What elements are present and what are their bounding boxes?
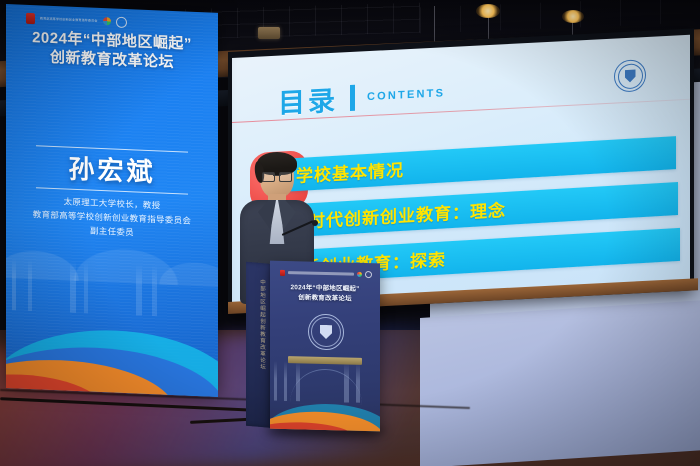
podium-side-text: 中部地区崛起创新教育改革论坛 <box>252 278 266 370</box>
projector-icon <box>258 27 280 39</box>
shield-shape <box>625 69 636 83</box>
podium-title-line2: 创新教育改革论坛 <box>270 292 380 304</box>
stage-spotlight-icon <box>476 4 500 18</box>
podium: 中部地区崛起创新教育改革论坛 2024年“中部地区崛起” 创新教育改革论坛 <box>246 262 380 434</box>
ministry-emblem-icon <box>280 269 285 275</box>
podium-skyline-graphic <box>270 361 380 404</box>
university-logo-icon <box>365 271 372 278</box>
glasses-icon <box>262 172 292 180</box>
stage-spotlight-icon <box>562 10 584 23</box>
banner-skyline <box>6 258 218 319</box>
presentation-scene: 目录 CONTENTS 学校基本情况 新时代创新创业教育：理念 创新创业教育：探… <box>0 0 700 466</box>
university-emblem-icon <box>614 59 646 93</box>
podium-front-panel: 2024年“中部地区崛起” 创新教育改革论坛 <box>270 261 380 432</box>
banner-speaker-titles: 太原理工大学校长，教授 教育部高等学校创新创业教育指导委员会 副主任委员 <box>6 192 218 243</box>
organizer-text-strip <box>288 271 354 275</box>
iceec-logo-icon <box>103 17 111 25</box>
right-floor-panel <box>420 299 700 466</box>
shield-shape <box>320 325 332 339</box>
microphone-head-icon <box>312 220 318 226</box>
podium-logo-row <box>280 269 372 278</box>
organizer-label: 教育部高等学校创新创业教育指导委员会 <box>40 16 98 22</box>
podium-side-panel: 中部地区崛起创新教育改革论坛 <box>246 262 272 428</box>
contents-item-2: 新时代创新创业教育：理念 <box>274 182 678 238</box>
slide-heading-cn: 目录 <box>278 79 338 121</box>
university-emblem-icon <box>308 314 344 351</box>
slide-heading-en: CONTENTS <box>367 87 445 103</box>
event-standing-banner: 教育部高等学校创新创业教育指导委员会 2024年“中部地区崛起” 创新教育改革论… <box>6 4 218 397</box>
iceec-logo-icon <box>357 272 362 277</box>
podium-title: 2024年“中部地区崛起” 创新教育改革论坛 <box>270 283 380 305</box>
ministry-emblem-icon <box>26 12 35 23</box>
heading-separator <box>350 84 355 110</box>
contents-item-1: 学校基本情况 <box>280 136 676 192</box>
university-logo-icon <box>116 16 127 27</box>
